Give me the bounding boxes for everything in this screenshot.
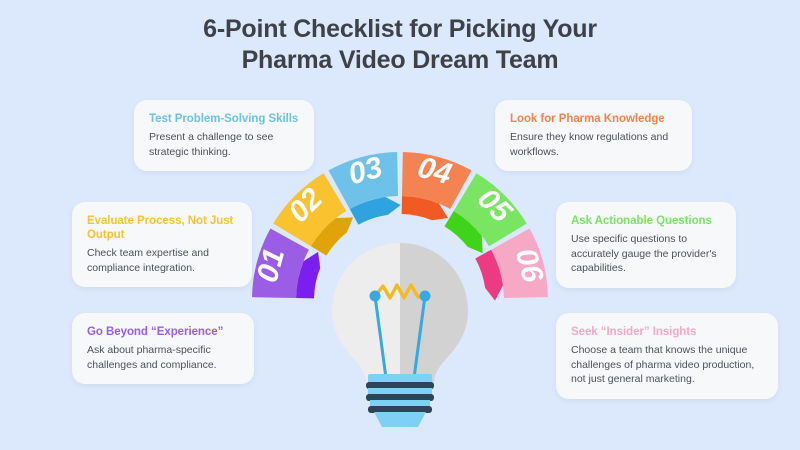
step-card-04-body: Ensure they know regulations and workflo… [510,130,678,159]
bulb-glass-right [400,243,468,389]
bulb-contact-right [420,291,431,302]
step-card-04-title: Look for Pharma Knowledge [510,112,678,126]
step-card-05-body: Use specific questions to accurately gau… [571,232,722,276]
bulb-contact-left [370,291,381,302]
step-card-03-title: Test Problem-Solving Skills [149,112,300,126]
step-card-01-body: Ask about pharma-specific challenges and… [87,343,240,372]
step-card-06[interactable]: Seek “Insider” Insights Choose a team th… [556,313,778,399]
step-card-03[interactable]: Test Problem-Solving Skills Present a ch… [134,100,314,171]
step-card-06-body: Choose a team that knows the unique chal… [571,343,764,387]
step-card-05-title: Ask Actionable Questions [571,214,722,228]
lightbulb-icon [332,243,468,427]
step-card-04[interactable]: Look for Pharma Knowledge Ensure they kn… [495,100,692,171]
step-card-01-title: Go Beyond “Experience” [87,325,240,339]
step-card-02[interactable]: Evaluate Process, Not Just Output Check … [72,202,252,287]
bulb-glass-left [332,243,400,389]
step-card-03-body: Present a challenge to see strategic thi… [149,130,300,159]
step-card-06-title: Seek “Insider” Insights [571,325,764,339]
infographic-canvas: 6-Point Checklist for Picking Your Pharm… [0,0,800,450]
step-card-05[interactable]: Ask Actionable Questions Use specific qu… [556,202,736,288]
step-card-02-title: Evaluate Process, Not Just Output [87,214,238,242]
step-card-01[interactable]: Go Beyond “Experience” Ask about pharma-… [72,313,254,384]
bulb-base [366,374,434,427]
step-card-02-body: Check team expertise and compliance inte… [87,246,238,275]
